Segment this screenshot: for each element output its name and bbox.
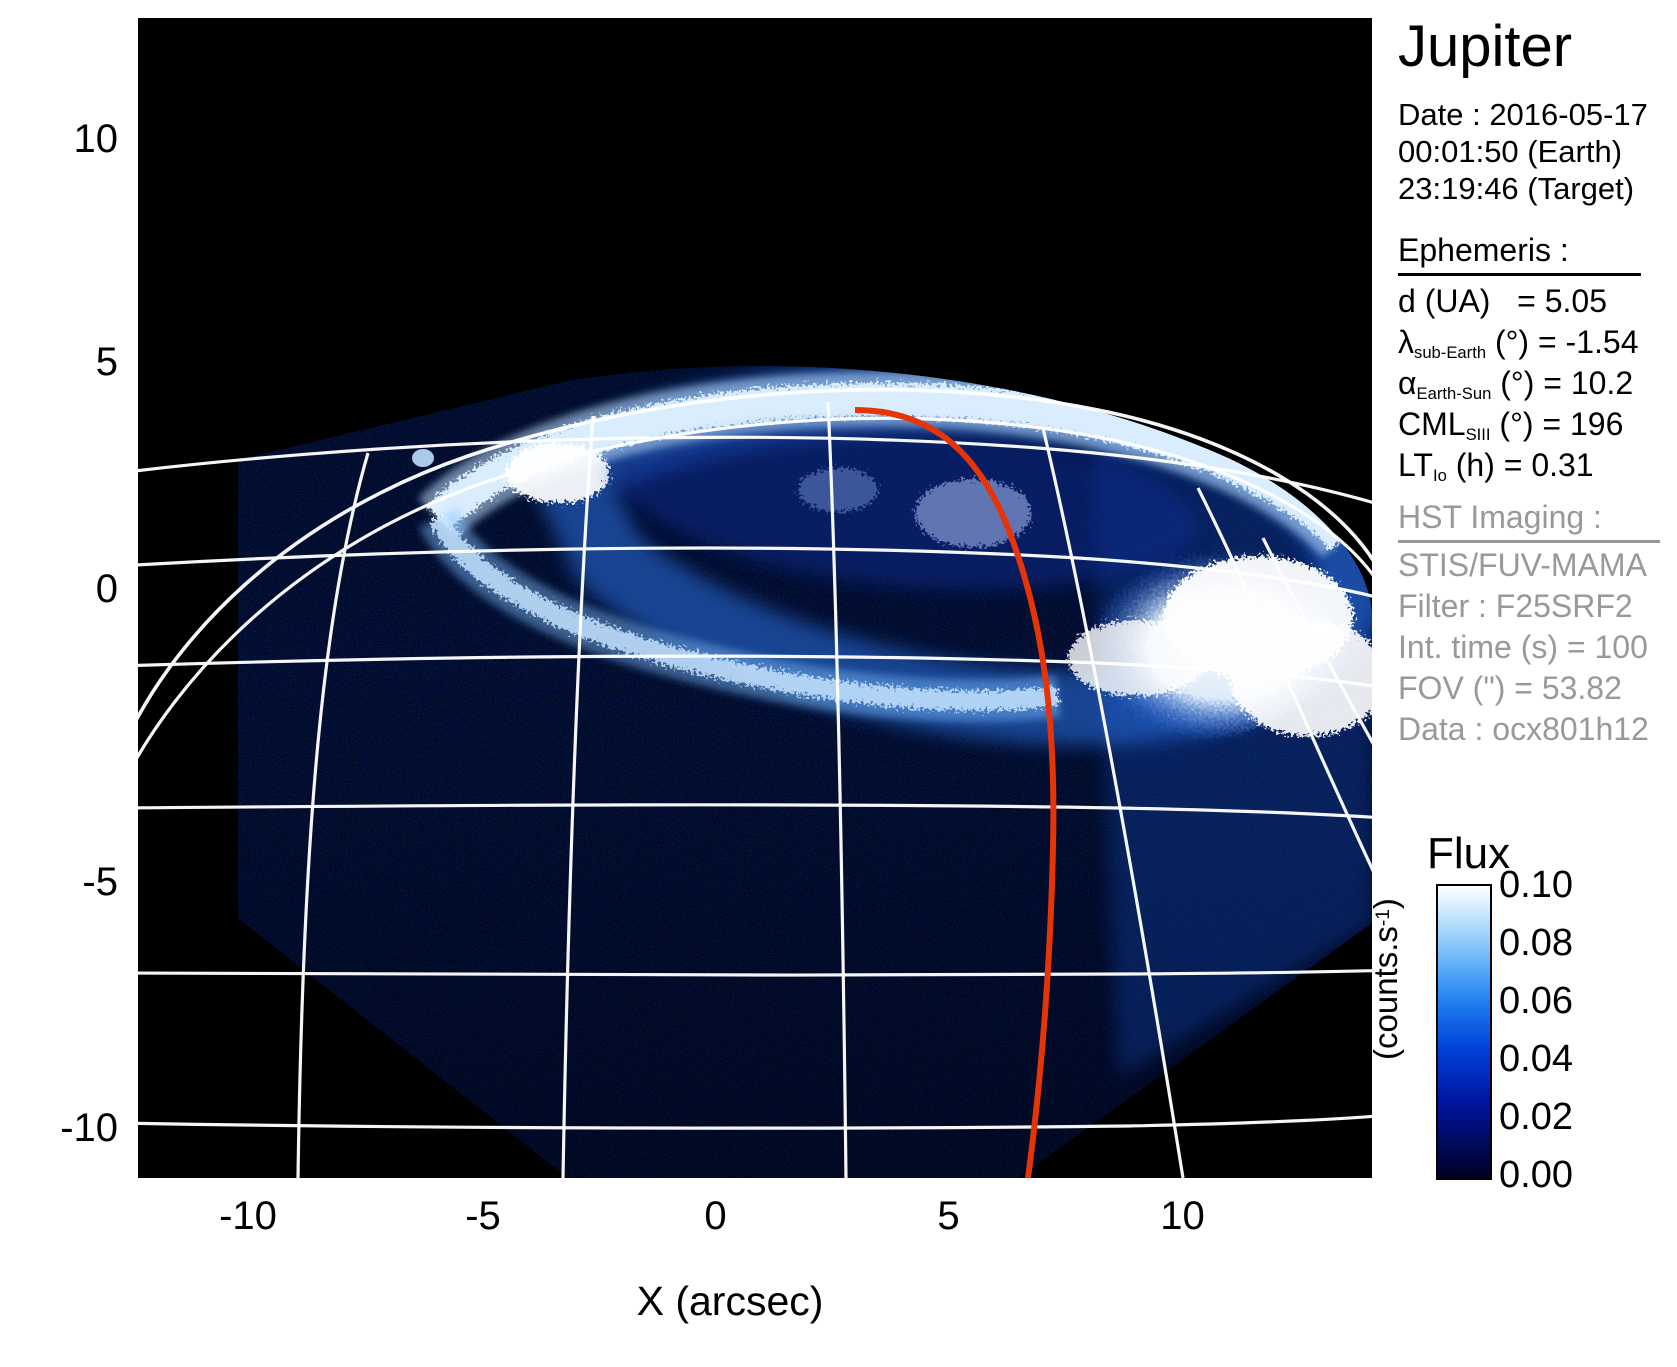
colorbar-tick-006: 0.06 — [1499, 982, 1573, 1020]
ephemeris-value-alpha: = 10.2 — [1543, 365, 1633, 401]
x-tick-10: 10 — [1125, 1196, 1240, 1236]
hst-fov: FOV (") = 53.82 — [1398, 668, 1649, 709]
colorbar-tick-004: 0.04 — [1499, 1040, 1573, 1078]
ephemeris-value-lt: = 0.31 — [1504, 447, 1594, 483]
colorbar-tick-labels: 0.10 0.08 0.06 0.04 0.02 0.00 — [1383, 880, 1677, 1180]
colorbar-axis-title-main: (counts.s — [1367, 926, 1404, 1060]
ephemeris-subscript-io: Io — [1433, 466, 1447, 485]
dawn-patch-2 — [1068, 620, 1208, 696]
ephemeris-value-cml: = 196 — [1542, 406, 1623, 442]
ephemeris-value-lambda: = -1.54 — [1538, 324, 1639, 360]
ephemeris-subscript-sub-earth: sub-Earth — [1414, 343, 1486, 362]
ephemeris-row-distance: d (UA) = 5.05 — [1398, 281, 1638, 322]
colorbar-axis-title-close: ) — [1367, 898, 1404, 909]
target-title: Jupiter — [1398, 13, 1572, 80]
ephemeris-symbol-cml: CML — [1398, 404, 1466, 445]
ephemeris-unit-cml: (°) — [1499, 406, 1533, 442]
y-tick-0: 0 — [38, 569, 118, 609]
ephemeris-row-sub-earth-lat: λsub-Earth (°) = -1.54 — [1398, 322, 1638, 363]
colorbar-axis-title-exponent: -1 — [1373, 909, 1394, 926]
x-tick-0: 0 — [663, 1196, 768, 1236]
limb-blob — [412, 449, 434, 467]
ephemeris-symbol-alpha: α — [1398, 363, 1417, 404]
y-tick-5: 5 — [38, 342, 118, 382]
ephemeris-unit-lt: (h) — [1456, 447, 1495, 483]
ephemeris-symbol-lt: LT — [1398, 445, 1433, 486]
ephemeris-row-cml: CMLSIII (°) = 196 — [1398, 404, 1638, 445]
ephemeris-unit-d: (UA) — [1425, 283, 1491, 319]
x-tick-5: 5 — [896, 1196, 1001, 1236]
colorbar-axis-title: (counts.s-1) — [1367, 980, 1405, 1060]
observation-date: Date : 2016-05-17 — [1398, 96, 1648, 133]
aurora-image-plot — [138, 18, 1372, 1178]
colorbar-title: Flux — [1427, 829, 1510, 879]
ephemeris-rows: d (UA) = 5.05 λsub-Earth (°) = -1.54 αEa… — [1398, 281, 1638, 486]
x-tick-m10: -10 — [188, 1196, 308, 1236]
ephemeris-row-io-local-time: LTIo (h) = 0.31 — [1398, 445, 1638, 486]
colorbar-tick-008: 0.08 — [1499, 924, 1573, 962]
colorbar-tick-002: 0.02 — [1499, 1098, 1573, 1136]
plot-canvas — [138, 18, 1372, 1178]
ephemeris-symbol-lambda: λ — [1398, 322, 1414, 363]
y-tick-10: 10 — [38, 119, 118, 159]
colorbar-tick-010: 0.10 — [1499, 866, 1573, 904]
y-tick-m5: -5 — [28, 862, 118, 902]
ephemeris-heading: Ephemeris : — [1398, 232, 1641, 276]
ephemeris-subscript-siii: SIII — [1466, 425, 1491, 444]
hst-imaging-heading: HST Imaging : — [1398, 499, 1660, 543]
x-axis-title: X (arcsec) — [520, 1278, 940, 1325]
hst-instrument: STIS/FUV-MAMA — [1398, 545, 1649, 586]
hst-int-time: Int. time (s) = 100 — [1398, 627, 1649, 668]
observation-time-target: 23:19:46 (Target) — [1398, 170, 1648, 207]
ephemeris-subscript-earth-sun: Earth-Sun — [1417, 384, 1492, 403]
ephemeris-unit-alpha: (°) — [1500, 365, 1534, 401]
observation-date-block: Date : 2016-05-17 00:01:50 (Earth) 23:19… — [1398, 96, 1648, 207]
observation-time-earth: 00:01:50 (Earth) — [1398, 133, 1648, 170]
hst-filter: Filter : F25SRF2 — [1398, 586, 1649, 627]
ephemeris-value-d: = 5.05 — [1517, 283, 1607, 319]
info-panel: Jupiter Date : 2016-05-17 00:01:50 (Eart… — [1383, 0, 1677, 1367]
ephemeris-symbol-d: d — [1398, 281, 1416, 322]
colorbar-tick-000: 0.00 — [1499, 1156, 1573, 1194]
ephemeris-row-phase-angle: αEarth-Sun (°) = 10.2 — [1398, 363, 1638, 404]
y-tick-m10: -10 — [18, 1108, 118, 1148]
hst-data-id: Data : ocx801h12 — [1398, 709, 1649, 750]
x-tick-m5: -5 — [428, 1196, 538, 1236]
hst-imaging-rows: STIS/FUV-MAMA Filter : F25SRF2 Int. time… — [1398, 545, 1649, 750]
ephemeris-unit-lambda: (°) — [1495, 324, 1529, 360]
